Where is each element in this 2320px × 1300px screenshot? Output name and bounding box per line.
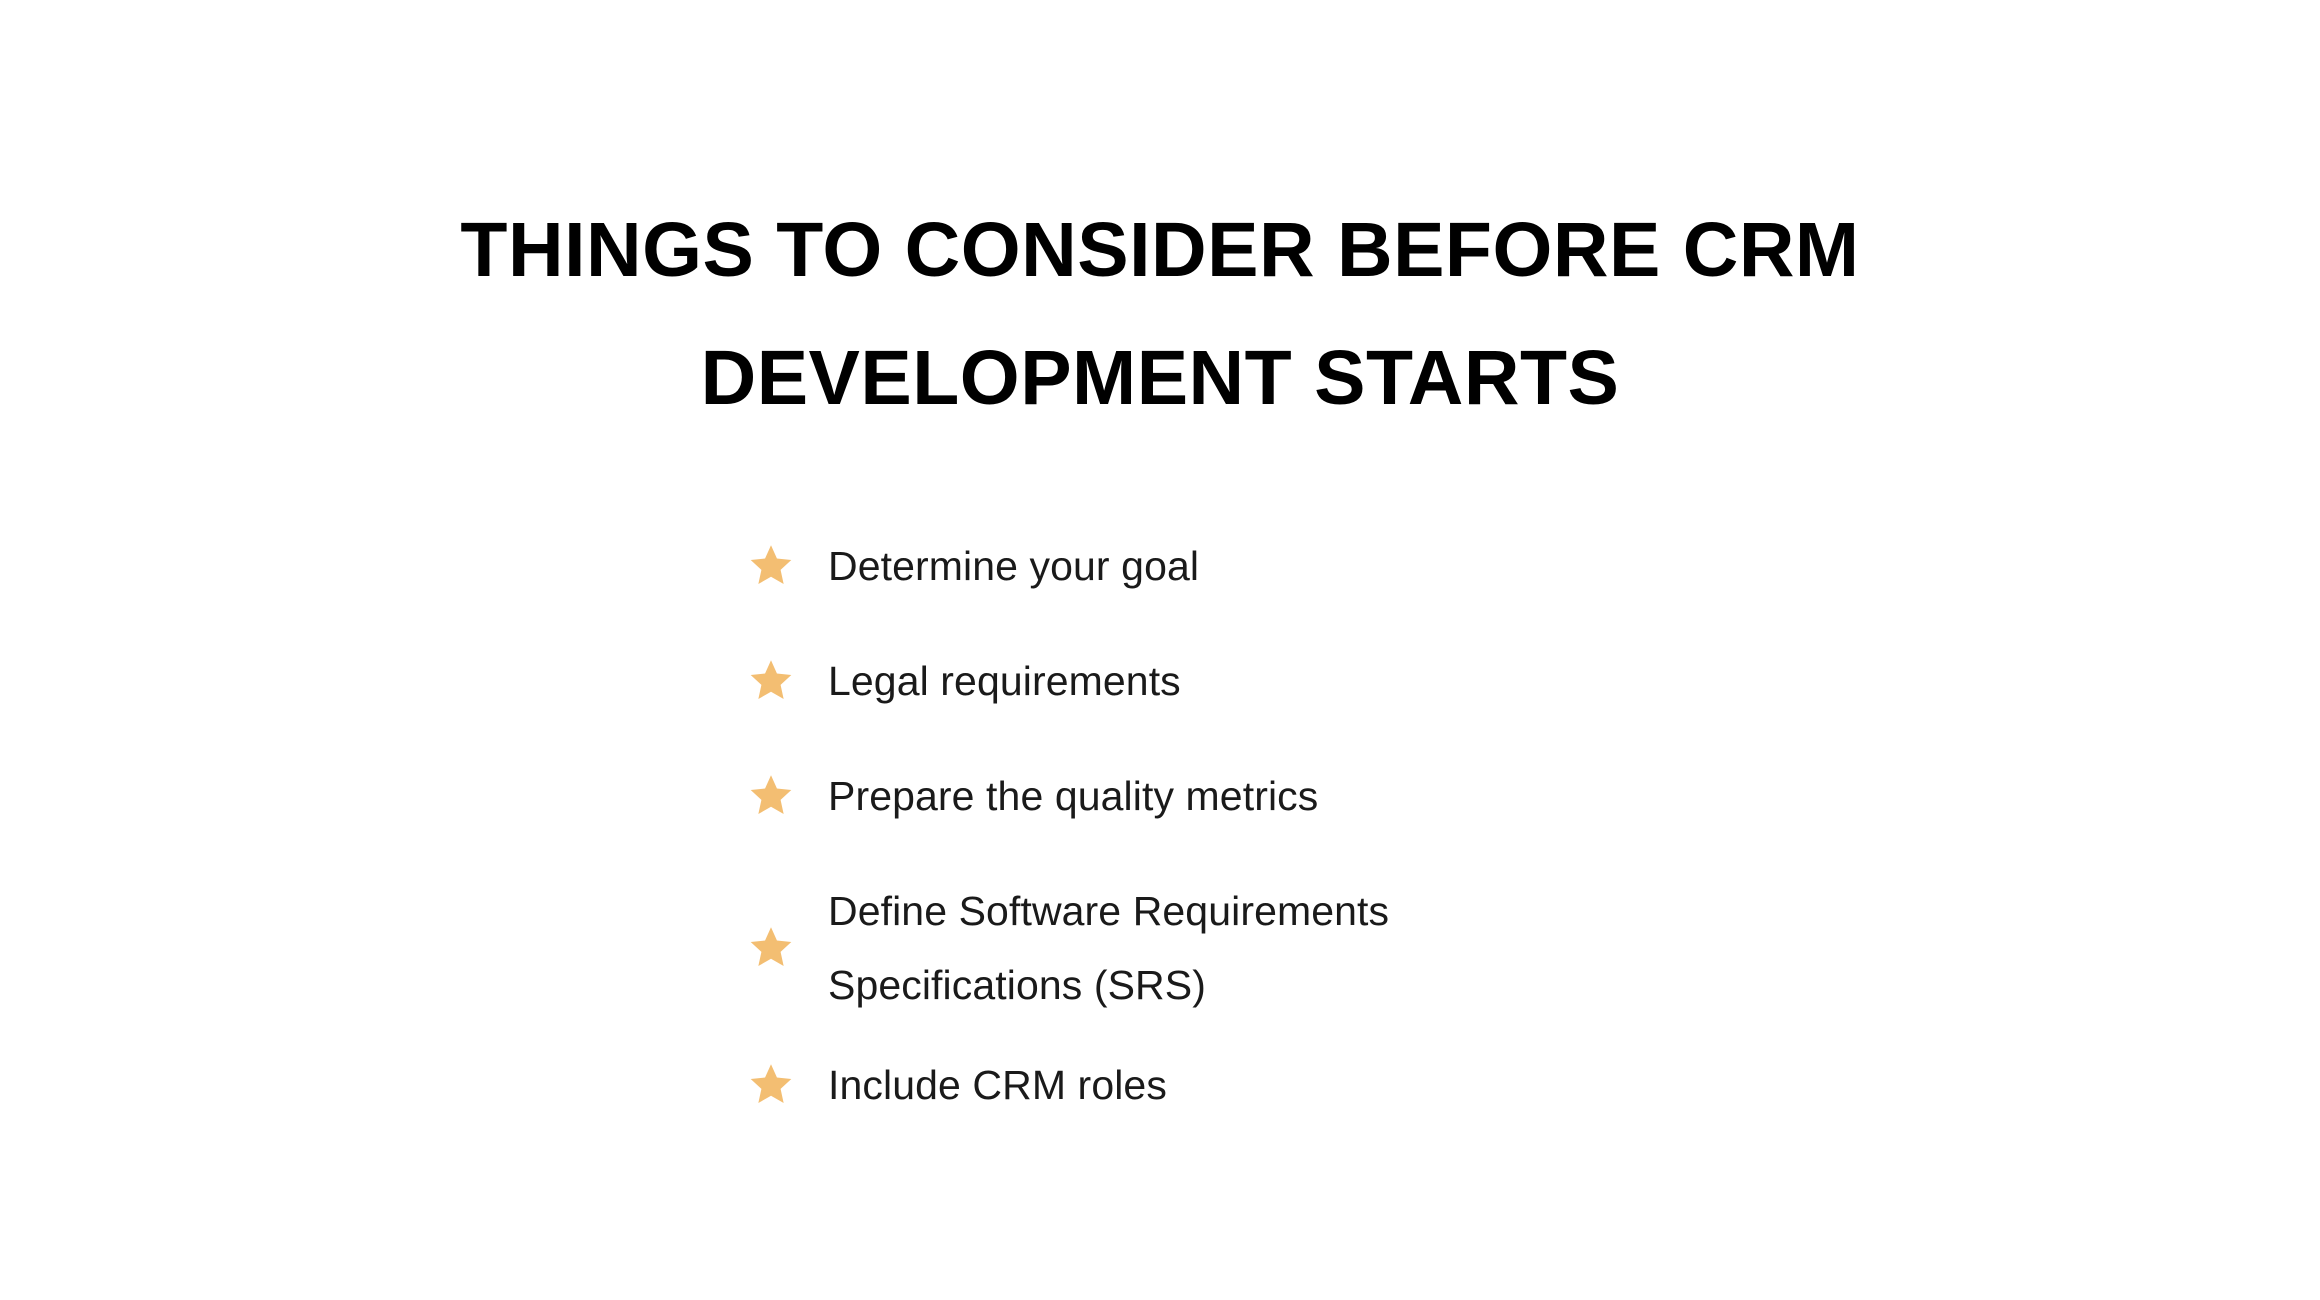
list-item: Determine your goal (748, 528, 1848, 604)
star-icon (748, 925, 794, 971)
list-item-label: Determine your goal (828, 529, 1199, 603)
considerations-list: Determine your goal Legal requirements P… (748, 528, 1848, 1123)
list-item: Include CRM roles (748, 1047, 1848, 1123)
list-item-label: Prepare the quality metrics (828, 759, 1318, 833)
page-title-line-2: DEVELOPMENT STARTS (0, 314, 2320, 442)
star-icon (748, 1062, 794, 1108)
list-item: Define Software Requirements Specificati… (748, 873, 1848, 1023)
star-icon (748, 773, 794, 819)
list-item: Legal requirements (748, 643, 1848, 719)
page-title-line-1: THINGS TO CONSIDER BEFORE CRM (0, 186, 2320, 314)
page-title: THINGS TO CONSIDER BEFORE CRM DEVELOPMEN… (0, 186, 2320, 442)
star-icon (748, 543, 794, 589)
slide-canvas: THINGS TO CONSIDER BEFORE CRM DEVELOPMEN… (0, 0, 2320, 1300)
list-item-label: Include CRM roles (828, 1048, 1167, 1122)
list-item: Prepare the quality metrics (748, 758, 1848, 834)
star-icon (748, 658, 794, 704)
list-item-label: Legal requirements (828, 644, 1181, 718)
list-item-label: Define Software Requirements Specificati… (828, 874, 1389, 1022)
